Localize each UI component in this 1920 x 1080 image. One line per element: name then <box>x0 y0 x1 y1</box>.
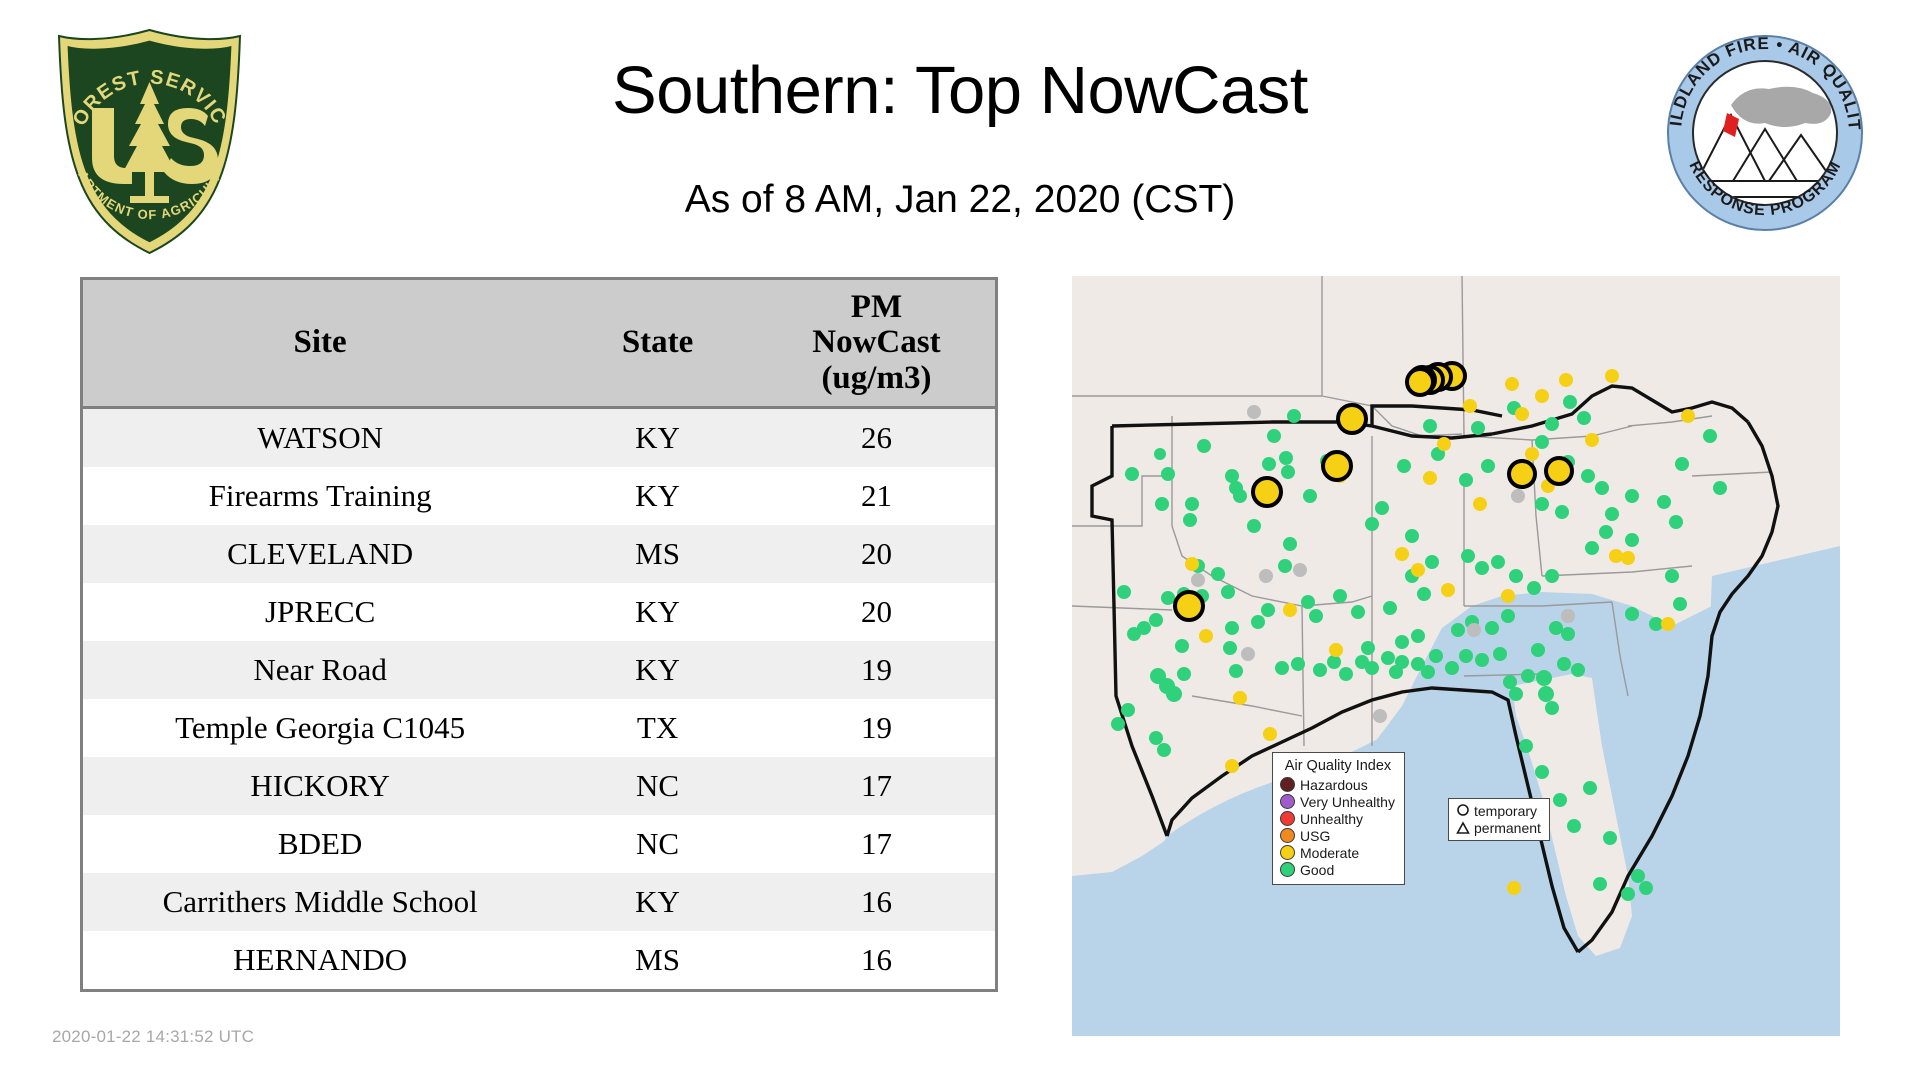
table-row: CLEVELANDMS20 <box>83 525 995 583</box>
cell-pm-nowcast: 26 <box>758 407 995 467</box>
monitor-type-legend: temporary permanent <box>1448 798 1550 841</box>
top-site-marker-cleveland[interactable] <box>1338 405 1366 433</box>
us-forest-service-logo: FOREST SERVICE DEPARTMENT OF AGRICULTURE <box>52 24 247 259</box>
aqi-legend-title: Air Quality Index <box>1280 758 1396 774</box>
top-site-marker-hickory[interactable] <box>1509 461 1535 487</box>
pm-nowcast-line-2: NowCast <box>762 325 991 360</box>
legend-label-temporary: temporary <box>1474 803 1537 819</box>
aqi-swatch-icon <box>1280 811 1295 826</box>
aqi-legend-row: Hazardous <box>1280 776 1396 793</box>
table-row: WATSONKY26 <box>83 407 995 467</box>
cell-site: CLEVELAND <box>83 525 557 583</box>
cell-pm-nowcast: 17 <box>758 815 995 873</box>
table-header-row: Site State PM NowCast (ug/m3) <box>83 280 995 407</box>
cell-state: NC <box>557 757 758 815</box>
cell-state: TX <box>557 699 758 757</box>
cell-site: Firearms Training <box>83 467 557 525</box>
wildland-fire-air-quality-logo: WILDLAND FIRE • AIR QUALITY RESPONSE PRO… <box>1665 33 1865 233</box>
column-header-pm-nowcast: PM NowCast (ug/m3) <box>758 280 995 407</box>
cell-pm-nowcast: 16 <box>758 931 995 989</box>
table-row: Firearms TrainingKY21 <box>83 467 995 525</box>
cell-site: Temple Georgia C1045 <box>83 699 557 757</box>
top-site-marker-carrithers-middle-school[interactable] <box>1407 369 1433 395</box>
table-row: Temple Georgia C1045TX19 <box>83 699 995 757</box>
top-site-marker-jprecc-alt[interactable] <box>1253 478 1281 506</box>
table-row: HICKORYNC17 <box>83 757 995 815</box>
cell-site: HERNANDO <box>83 931 557 989</box>
cell-site: JPRECC <box>83 583 557 641</box>
cell-state: KY <box>557 467 758 525</box>
cell-pm-nowcast: 20 <box>758 525 995 583</box>
cell-pm-nowcast: 16 <box>758 873 995 931</box>
triangle-outline-icon <box>1454 820 1471 835</box>
air-quality-monitor-map[interactable] <box>1072 276 1840 1036</box>
cell-state: KY <box>557 407 758 467</box>
aqi-legend-label: USG <box>1300 828 1330 844</box>
cell-site: WATSON <box>83 407 557 467</box>
cell-site: BDED <box>83 815 557 873</box>
cell-site: Carrithers Middle School <box>83 873 557 931</box>
aqi-swatch-icon <box>1280 794 1295 809</box>
footer-timestamp: 2020-01-22 14:31:52 UTC <box>52 1027 254 1047</box>
cell-pm-nowcast: 17 <box>758 757 995 815</box>
cell-site: Near Road <box>83 641 557 699</box>
cell-pm-nowcast: 19 <box>758 699 995 757</box>
page-title: Southern: Top NowCast <box>300 52 1620 129</box>
cell-pm-nowcast: 20 <box>758 583 995 641</box>
table-row: BDEDNC17 <box>83 815 995 873</box>
aqi-legend-row: USG <box>1280 827 1396 844</box>
legend-label-permanent: permanent <box>1474 820 1541 836</box>
aqi-legend-label: Unhealthy <box>1300 811 1363 827</box>
legend-row-temporary: temporary <box>1454 802 1541 819</box>
aqi-legend-label: Moderate <box>1300 845 1359 861</box>
aqi-swatch-icon <box>1280 828 1295 843</box>
map-canvas[interactable] <box>1072 276 1840 1036</box>
table-row: Near RoadKY19 <box>83 641 995 699</box>
page-subtitle: As of 8 AM, Jan 22, 2020 (CST) <box>300 178 1620 222</box>
cell-state: NC <box>557 815 758 873</box>
top-site-marker-bded[interactable] <box>1546 458 1572 484</box>
cell-state: KY <box>557 641 758 699</box>
pm-nowcast-line-1: PM <box>762 290 991 325</box>
cell-pm-nowcast: 19 <box>758 641 995 699</box>
aqi-legend-label: Hazardous <box>1300 777 1368 793</box>
cell-site: HICKORY <box>83 757 557 815</box>
legend-row-permanent: permanent <box>1454 819 1541 836</box>
aqi-legend-label: Good <box>1300 862 1334 878</box>
aqi-swatch-icon <box>1280 777 1295 792</box>
aqi-legend-row: Good <box>1280 861 1396 878</box>
column-header-state: State <box>557 280 758 407</box>
cell-state: KY <box>557 583 758 641</box>
cell-state: MS <box>557 931 758 989</box>
aqi-legend-row: Very Unhealthy <box>1280 793 1396 810</box>
cell-state: KY <box>557 873 758 931</box>
table-row: HERNANDOMS16 <box>83 931 995 989</box>
aqi-swatch-icon <box>1280 845 1295 860</box>
column-header-site: Site <box>83 280 557 407</box>
top-site-marker-temple-georgia-c1045[interactable] <box>1175 592 1203 620</box>
aqi-legend-label: Very Unhealthy <box>1300 794 1395 810</box>
aqi-legend-row: Unhealthy <box>1280 810 1396 827</box>
table-row: JPRECCKY20 <box>83 583 995 641</box>
top-site-marker-hernando[interactable] <box>1323 452 1351 480</box>
pm-nowcast-line-3: (ug/m3) <box>762 361 991 396</box>
top-nowcast-table: Site State PM NowCast (ug/m3) WATSONKY26… <box>80 277 998 992</box>
aqi-legend-row: Moderate <box>1280 844 1396 861</box>
aqi-legend: Air Quality Index HazardousVery Unhealth… <box>1272 752 1405 885</box>
circle-outline-icon <box>1454 803 1471 818</box>
cell-state: MS <box>557 525 758 583</box>
table-row: Carrithers Middle SchoolKY16 <box>83 873 995 931</box>
aqi-swatch-icon <box>1280 862 1295 877</box>
cell-pm-nowcast: 21 <box>758 467 995 525</box>
